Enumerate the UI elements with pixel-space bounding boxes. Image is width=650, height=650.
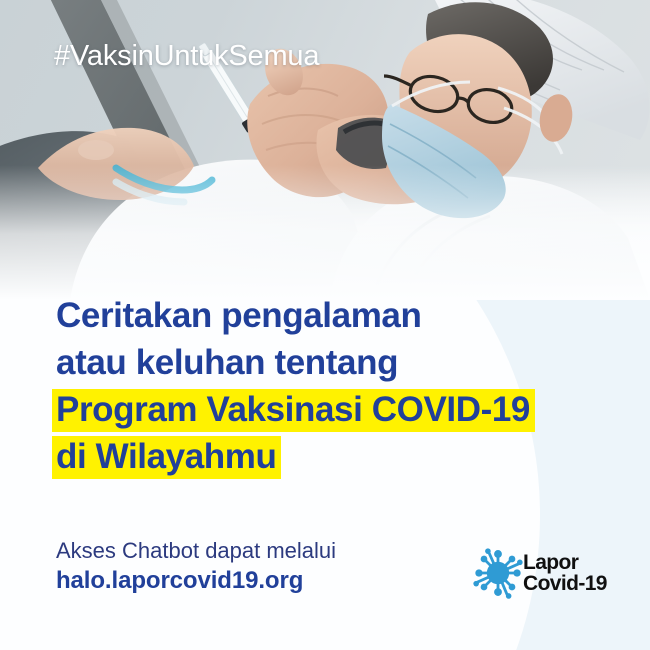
headline-line-3-highlight: Program Vaksinasi COVID-19 [52, 389, 535, 432]
laporcovid-logo[interactable]: Lapor Covid-19 [470, 545, 607, 601]
chatbot-access-label: Akses Chatbot dapat melalui [56, 536, 336, 565]
chatbot-url-link[interactable]: halo.laporcovid19.org [56, 565, 336, 597]
footer-block: Akses Chatbot dapat melalui halo.laporco… [56, 536, 336, 597]
logo-wordmark: Lapor Covid-19 [523, 552, 607, 595]
campaign-hashtag: #VaksinUntukSemua [54, 40, 319, 73]
coronavirus-icon [470, 545, 526, 601]
headline-block: Ceritakan pengalaman atau keluhan tentan… [52, 292, 612, 480]
headline-line-4: di Wilayahmu [52, 433, 612, 480]
headline-line-4-highlight: di Wilayahmu [52, 436, 281, 479]
vaccination-campaign-poster: #VaksinUntukSemua Ceritakan pengalaman a… [0, 0, 650, 650]
headline-line-3: Program Vaksinasi COVID-19 [52, 386, 612, 433]
headline-line-1: Ceritakan pengalaman [52, 292, 612, 339]
logo-text-line-1: Lapor [523, 552, 607, 573]
logo-text-line-2: Covid-19 [523, 573, 607, 594]
headline-line-2: atau keluhan tentang [52, 339, 612, 386]
